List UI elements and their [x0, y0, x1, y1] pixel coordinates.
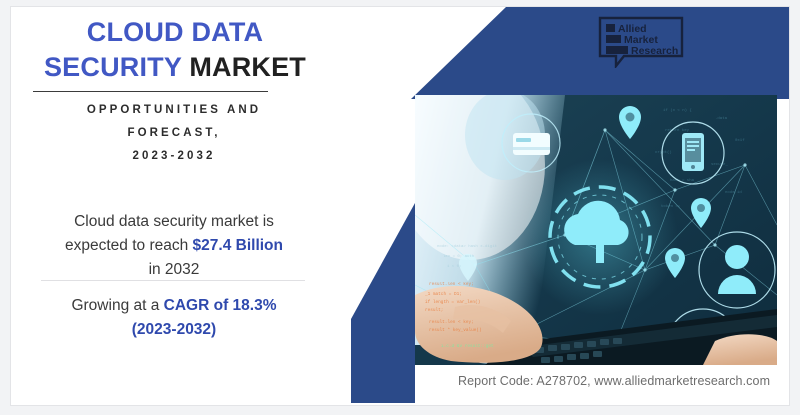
allied-market-research-logo: Allied Market Research: [598, 16, 684, 68]
stat-market-size: Cloud data security market is expected t…: [19, 210, 329, 282]
subtitle-line-3: 2023-2032: [133, 150, 216, 162]
svg-text:len = 0; auth: len = 0; auth: [443, 254, 475, 259]
stat-divider: [41, 280, 305, 281]
stat-market-size-lead2: expected to reach: [65, 237, 188, 254]
title-line2-dark: MARKET: [189, 52, 306, 82]
stat-market-size-lead: Cloud data security market is: [74, 213, 274, 230]
stat-market-size-value: $27.4 Billion: [193, 237, 283, 254]
subtitle: OPPORTUNITIES AND FORECAST, 2023-2032: [25, 99, 323, 168]
subtitle-line-2: FORECAST,: [127, 127, 220, 139]
svg-text:result;: result;: [425, 308, 443, 313]
svg-text:0x1f: 0x1f: [735, 138, 745, 143]
svg-text:node.id: node.id: [725, 190, 742, 195]
svg-text:result.len < key;: result.len < key;: [429, 282, 474, 287]
text-column: CLOUD DATA SECURITY MARKET OPPORTUNITIES…: [11, 7, 411, 405]
stat-cagr-period: (2023-2032): [132, 321, 216, 338]
svg-text:crypt(): crypt(): [655, 150, 672, 155]
infographic-card: CLOUD DATA SECURITY MARKET OPPORTUNITIES…: [10, 6, 790, 406]
svg-text:secure_: secure_: [711, 162, 728, 167]
svg-text:if (x < n) {: if (x < n) {: [663, 108, 692, 113]
stat-cagr-value: CAGR of 18.3%: [164, 297, 277, 314]
svg-text:_1 match = D1;: _1 match = D1;: [424, 292, 462, 297]
svg-text:result.len < key;: result.len < key;: [429, 320, 474, 325]
page-title: CLOUD DATA SECURITY MARKET: [25, 15, 325, 84]
svg-text:return key: return key: [665, 128, 690, 133]
stat-cagr: Growing at a CAGR of 18.3% (2023-2032): [19, 294, 329, 342]
svg-text:node: <data> hash x-digit: node: <data> hash x-digit: [437, 244, 497, 249]
title-line1: CLOUD DATA: [87, 17, 263, 47]
subtitle-line-1: OPPORTUNITIES AND: [87, 104, 261, 116]
svg-text:i.c.d &v result::get: i.c.d &v result::get: [441, 344, 494, 349]
hero-photo: if (x < n) { .data return key 0x1f crypt…: [415, 95, 777, 365]
stat-cagr-lead: Growing at a: [71, 297, 159, 314]
title-line2-highlight: SECURITY: [44, 52, 182, 82]
stat-market-size-trail: in 2032: [149, 261, 200, 278]
logo-text-line3: Research: [631, 45, 678, 57]
svg-text:if length = var_len(): if length = var_len(): [425, 300, 480, 305]
title-divider: [33, 91, 268, 92]
svg-text:.data: .data: [715, 116, 728, 121]
svg-text:i < 0;: i < 0;: [447, 264, 461, 269]
svg-text:result * key_value(): result * key_value(): [429, 328, 482, 333]
infographic-canvas: CLOUD DATA SECURITY MARKET OPPORTUNITIES…: [0, 0, 800, 415]
report-code-footer: Report Code: A278702, www.alliedmarketre…: [458, 374, 770, 388]
